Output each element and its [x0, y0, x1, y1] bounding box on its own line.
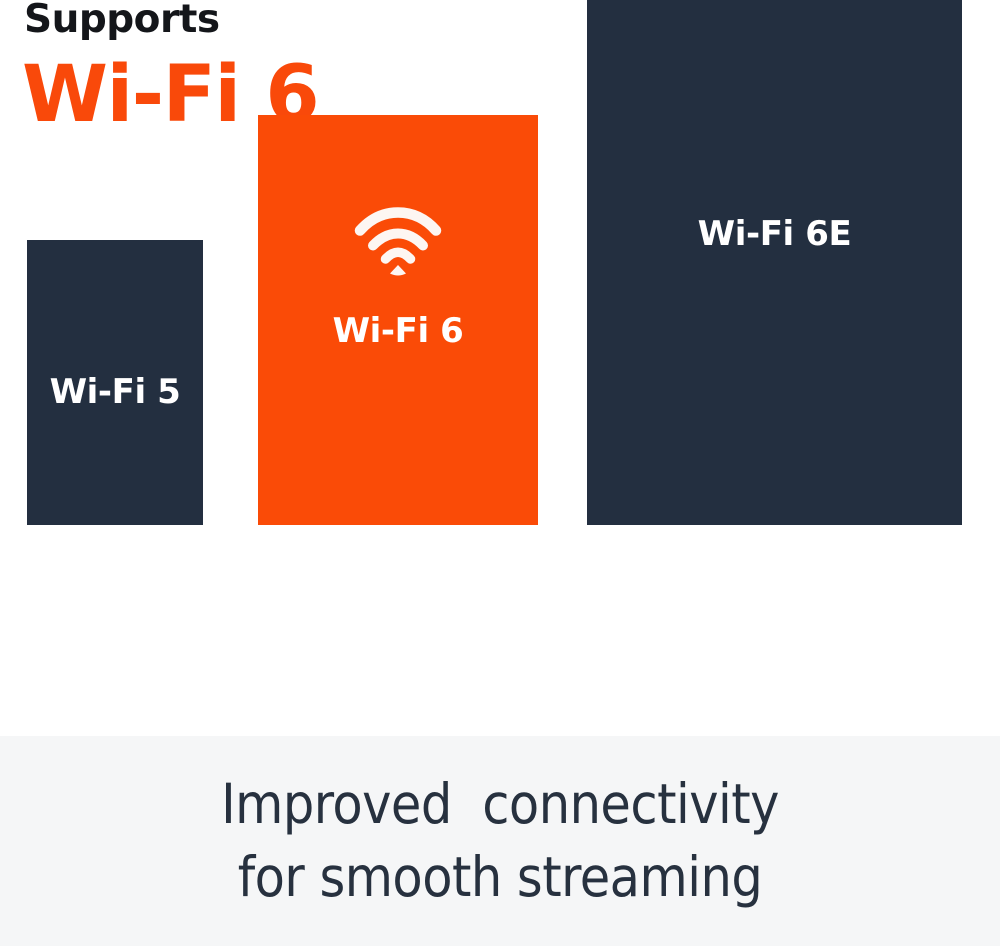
bar-wifi-5: Wi-Fi 5: [27, 240, 203, 525]
caption-line-2: for smooth streaming: [238, 841, 763, 914]
caption-band: Improved connectivity for smooth streami…: [0, 736, 1000, 946]
bar-label-wifi-6e: Wi-Fi 6E: [587, 214, 962, 254]
bar-label-wifi-6: Wi-Fi 6: [258, 311, 538, 351]
bar-wifi-6e: Wi-Fi 6E: [587, 0, 962, 525]
wifi-icon: [354, 207, 442, 277]
bar-chart: Wi-Fi 5 Wi-Fi 6 Wi-Fi 6E: [0, 0, 1000, 736]
bar-label-wifi-5: Wi-Fi 5: [27, 372, 203, 412]
bar-wifi-6: Wi-Fi 6: [258, 115, 538, 525]
caption-line-1: Improved connectivity: [221, 768, 779, 841]
infographic-canvas: Supports Wi-Fi 6 Wi-Fi 5 Wi-Fi 6 Wi-Fi 6…: [0, 0, 1000, 946]
